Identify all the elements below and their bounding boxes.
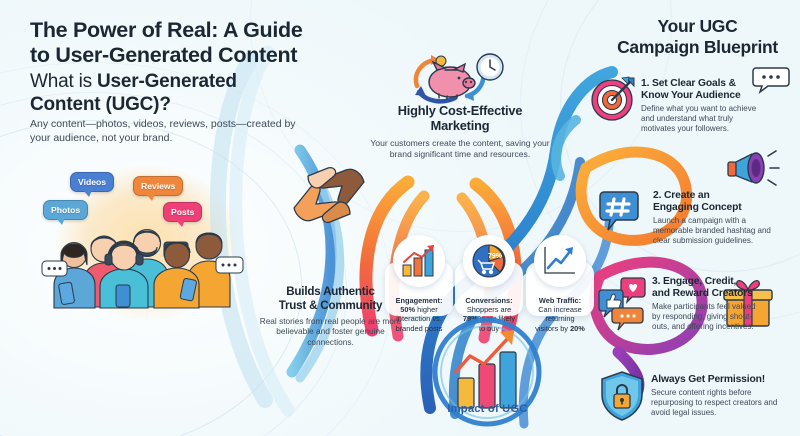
subtitle-prefix: What is <box>30 71 97 92</box>
blueprint-step-3: 3. Engage, Credit, and Reward Creators M… <box>652 276 794 331</box>
blueprint-step-1-body: Define what you want to achieve and unde… <box>641 104 769 133</box>
blueprint-step-permission: Always Get Permission! Secure content ri… <box>651 374 797 417</box>
stat-card-conversions: 79% Conversions: Shoppers are 79% more l… <box>455 262 523 316</box>
center-feature-body: Your customers create the content, savin… <box>365 138 555 159</box>
stat-engagement-value: 50% <box>400 305 415 314</box>
stat-conversions-label: Conversions: <box>465 296 512 305</box>
blueprint-step-permission-title-line1: Always Get Permission! <box>651 374 797 386</box>
line-chart-uptrend-icon <box>534 235 586 287</box>
tag-videos: Videos <box>70 172 114 192</box>
tag-posts-label: Posts <box>171 207 194 217</box>
blueprint-step-3-title: 3. Engage, Credit, and Reward Creators <box>652 276 794 300</box>
stat-conversions-detail-a: Shoppers are <box>467 305 511 314</box>
blueprint-title-line2: Campaign Blueprint <box>600 37 795 58</box>
piggy-bank-clock-recycle-icon <box>395 52 525 107</box>
page-title-line1: The Power of Real: A Guide <box>30 18 360 43</box>
hands-together-community-icon <box>288 158 370 233</box>
blueprint-step-permission-title: Always Get Permission! <box>651 374 797 386</box>
page-title-line2: to User-Generated Content <box>30 43 360 68</box>
blueprint-step-2-title-line1: 2. Create an <box>653 190 795 202</box>
tag-reviews: Reviews <box>133 176 183 196</box>
left-feature-body: Real stories from real people are more b… <box>253 316 408 347</box>
blueprint-step-1-title-line2: Know Your Audience <box>641 90 793 102</box>
stat-engagement-label: Engagement: <box>396 296 443 305</box>
blueprint-title: Your UGC Campaign Blueprint <box>600 16 795 58</box>
center-feature: Highly Cost-Effective Marketing Your cus… <box>365 103 555 159</box>
pie-label: 79% <box>488 253 503 260</box>
pie-chart-cart-icon: 79% <box>463 235 515 287</box>
blueprint-step-3-body: Make participants feel valued by respond… <box>652 302 764 331</box>
blueprint-step-2-body: Launch a campaign with a memorable brand… <box>653 216 787 245</box>
center-feature-title-line2: Marketing <box>365 118 555 133</box>
blueprint-step-3-title-line2: and Reward Creators <box>652 288 794 300</box>
blueprint-step-2-title: 2. Create an Engaging Concept <box>653 190 795 214</box>
blueprint-step-1-title: 1. Set Clear Goals & Know Your Audience <box>641 78 793 102</box>
center-feature-title-line1: Highly Cost-Effective <box>365 103 555 118</box>
subtitle-bold-line1: User-Generated <box>97 71 237 92</box>
intro-paragraph: Any content—photos, videos, reviews, pos… <box>30 118 300 145</box>
tag-videos-label: Videos <box>78 177 106 187</box>
blueprint-step-1-title-line1: 1. Set Clear Goals & <box>641 78 793 90</box>
blueprint-step-1: 1. Set Clear Goals & Know Your Audience … <box>641 78 793 133</box>
center-feature-title: Highly Cost-Effective Marketing <box>365 103 555 133</box>
blueprint-step-permission-body: Secure content rights before repurposing… <box>651 388 781 417</box>
infographic-canvas: The Power of Real: A Guide to User-Gener… <box>0 0 800 436</box>
blueprint-step-2: 2. Create an Engaging Concept Launch a c… <box>653 190 795 245</box>
blueprint-step-3-title-line1: 3. Engage, Credit, <box>652 276 794 288</box>
stat-traffic-detail-a: Can increase <box>538 305 582 314</box>
tag-photos-label: Photos <box>51 205 80 215</box>
blueprint-step-2-title-line2: Engaging Concept <box>653 202 795 214</box>
subtitle-bold-line2: Content (UGC)? <box>30 94 171 115</box>
stat-card-engagement: Engagement: 50% higher interaction vs. b… <box>385 262 453 316</box>
stat-engagement-detail-a: higher <box>415 305 438 314</box>
section-subtitle: What is User-Generated Content (UGC)? <box>30 70 330 116</box>
tag-reviews-label: Reviews <box>141 181 175 191</box>
bar-chart-growth-icon <box>393 235 445 287</box>
megaphone-icon <box>726 148 782 190</box>
thumbs-up-heart-chat-icon <box>598 276 650 332</box>
tag-posts: Posts <box>163 202 202 222</box>
stat-card-web-traffic: Web Traffic: Can increase returning visi… <box>526 262 594 316</box>
impact-label: Impact of UGC <box>400 403 575 415</box>
tag-photos: Photos <box>43 200 88 220</box>
stat-traffic-label: Web Traffic: <box>539 296 581 305</box>
blueprint-title-line1: Your UGC <box>600 16 795 37</box>
impact-badge: Impact of UGC <box>400 320 575 430</box>
hashtag-bubble-icon <box>600 190 642 234</box>
shield-lock-icon <box>600 370 644 422</box>
dartboard-target-arrow-icon <box>590 76 636 122</box>
page-title: The Power of Real: A Guide to User-Gener… <box>30 18 360 68</box>
